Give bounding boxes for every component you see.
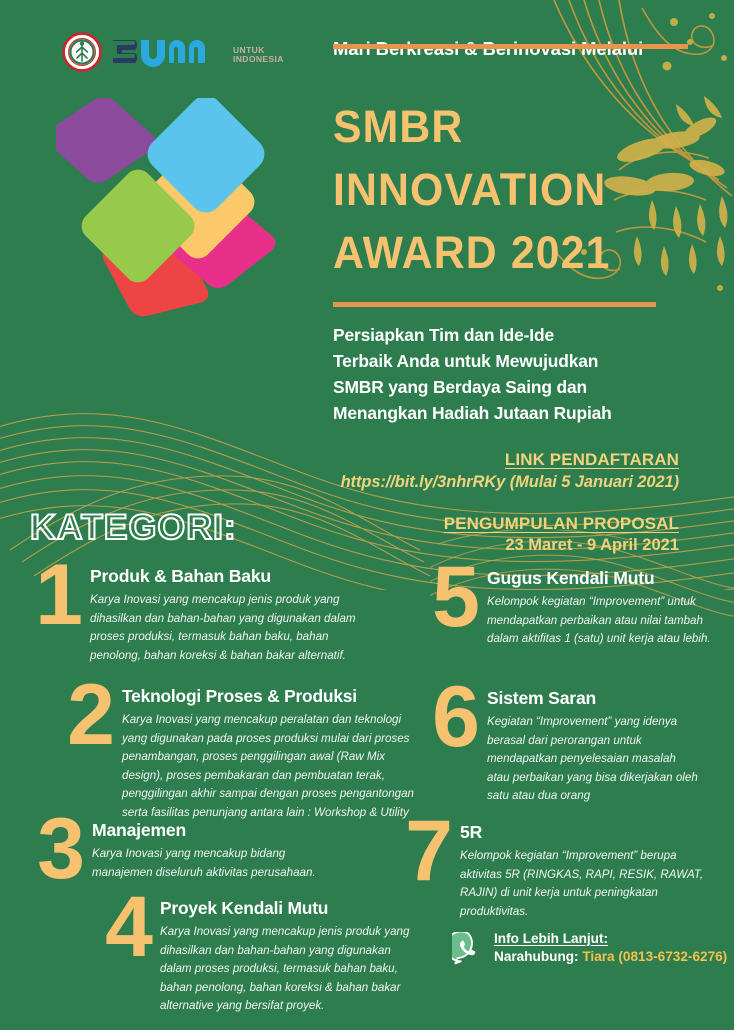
desc-line: Kelompok kegiatan “Improvement” untuk	[487, 593, 711, 612]
header: UNTUK INDONESIA Mari Berkreasi & Berinov…	[0, 28, 734, 98]
category-item-4: 4 Proyek Kendali Mutu Karya Inovasi yang…	[98, 888, 409, 1016]
bumn-logotype-icon	[111, 37, 229, 67]
category-description: Karya Inovasi yang mencakup jenis produk…	[90, 591, 356, 665]
desc-line: alternative yang bersifat proyek.	[160, 997, 409, 1016]
category-title: Proyek Kendali Mutu	[160, 898, 409, 919]
desc-line: atau perbaikan yang bisa dikerjakan oleh	[487, 769, 698, 788]
category-number: 1	[28, 556, 90, 634]
registration-link-heading: LINK PENDAFTARAN	[0, 450, 679, 470]
desc-line: mendapatkan perbaikan atau nilai tambah	[487, 612, 711, 631]
title-line-3: AWARD 2021	[333, 221, 647, 284]
category-number: 4	[98, 888, 160, 966]
desc-line: dalam proses produksi, termasuk bahan ba…	[160, 960, 409, 979]
category-item-5: 5 Gugus Kendali Mutu Kelompok kegiatan “…	[425, 558, 711, 649]
desc-line: Kegiatan “Improvement” yang idenya	[487, 713, 698, 732]
category-description: Karya Inovasi yang mencakup jenis produk…	[160, 923, 409, 1016]
bumn-wordmark: UNTUK INDONESIA	[111, 37, 284, 67]
contact-label: Narahubung:	[494, 949, 582, 964]
category-number: 2	[60, 676, 122, 754]
bumn-tagline: UNTUK INDONESIA	[233, 46, 284, 67]
contact-text: Info Lebih Lanjut: Narahubung: Tiara (08…	[494, 930, 727, 967]
desc-line: penolong, bahan koreksi & bahan bakar al…	[90, 647, 356, 666]
desc-line: berasal dari perorangan untuk	[487, 732, 698, 751]
desc-line: penggilingan akhir sampai dengan proses …	[122, 785, 414, 804]
category-number: 3	[30, 810, 92, 888]
category-item-6: 6 Sistem Saran Kegiatan “Improvement” ya…	[425, 678, 698, 806]
smbr-company-seal-icon	[62, 32, 102, 72]
category-description: Kegiatan “Improvement” yang idenya beras…	[487, 713, 698, 806]
lead-line-2: Terbaik Anda untuk Mewujudkan	[333, 348, 693, 374]
page-title: SMBR INNOVATION AWARD 2021	[333, 95, 647, 284]
contact-block[interactable]: Info Lebih Lanjut: Narahubung: Tiara (08…	[452, 930, 727, 967]
contact-heading: Info Lebih Lanjut:	[494, 930, 727, 948]
desc-line: RAJIN) di unit kerja untuk peningkatan	[460, 884, 703, 903]
category-description: Kelompok kegiatan “Improvement” berupa a…	[460, 847, 703, 921]
desc-line: yang digunakan pada proses produksi mula…	[122, 730, 414, 749]
smbr-innovation-pinwheel-logo-icon	[56, 98, 324, 328]
category-number: 7	[398, 812, 460, 890]
registration-link-url[interactable]: https://bit.ly/3nhrRKy (Mulai 5 Januari …	[0, 473, 679, 492]
lead-paragraph: Persiapkan Tim dan Ide-Ide Terbaik Anda …	[333, 322, 693, 426]
category-number: 6	[425, 678, 487, 756]
divider-mid	[333, 302, 656, 307]
categories-heading: KATEGORI:	[30, 508, 237, 548]
desc-line: proses produksi, termasuk bahan baku, ba…	[90, 628, 356, 647]
desc-line: aktivitas 5R (RINGKAS, RAPI, RESIK, RAWA…	[460, 866, 703, 885]
contact-name-phone: Tiara (0813-6732-6276)	[582, 949, 727, 964]
desc-line: dalam aktifitas 1 (satu) unit kerja atau…	[487, 630, 711, 649]
category-title: Teknologi Proses & Produksi	[122, 686, 414, 707]
desc-line: Karya Inovasi yang mencakup bidang	[92, 845, 316, 864]
desc-line: dihasilkan dan bahan-bahan yang digunaka…	[160, 942, 409, 961]
desc-line: satu atau dua orang	[487, 787, 698, 806]
poster-root: UNTUK INDONESIA Mari Berkreasi & Berinov…	[0, 0, 734, 1030]
category-description: Kelompok kegiatan “Improvement” untuk me…	[487, 593, 711, 649]
tagline: Mari Berkreasi & Berinovasi Melalui	[333, 38, 643, 60]
lead-line-1: Persiapkan Tim dan Ide-Ide	[333, 322, 693, 348]
whatsapp-icon[interactable]	[452, 932, 485, 965]
category-item-3: 3 Manajemen Karya Inovasi yang mencakup …	[30, 810, 316, 888]
desc-line: produktivitas.	[460, 903, 703, 922]
desc-line: Karya Inovasi yang mencakup jenis produk…	[160, 923, 409, 942]
category-item-1: 1 Produk & Bahan Baku Karya Inovasi yang…	[28, 556, 356, 665]
desc-line: penambangan, proses penggilingan awal (R…	[122, 748, 414, 767]
category-description: Karya Inovasi yang mencakup bidang manaj…	[92, 845, 316, 882]
desc-line: Karya Inovasi yang mencakup peralatan da…	[122, 711, 414, 730]
category-number: 5	[425, 558, 487, 636]
desc-line: dihasilkan dan bahan-bahan yang digunaka…	[90, 610, 356, 629]
contact-person: Narahubung: Tiara (0813-6732-6276)	[494, 948, 727, 966]
desc-line: Kelompok kegiatan “Improvement” berupa	[460, 847, 703, 866]
desc-line: bahan penolong, bahan koreksi & bahan ba…	[160, 979, 409, 998]
lead-line-3: SMBR yang Berdaya Saing dan	[333, 374, 693, 400]
bumn-logo-block: UNTUK INDONESIA	[62, 32, 284, 72]
category-description: Karya Inovasi yang mencakup peralatan da…	[122, 711, 414, 823]
lead-line-4: Menangkan Hadiah Jutaan Rupiah	[333, 400, 693, 426]
category-title: Manajemen	[92, 820, 316, 841]
category-title: Gugus Kendali Mutu	[487, 568, 711, 589]
category-item-2: 2 Teknologi Proses & Produksi Karya Inov…	[60, 676, 414, 823]
category-item-7: 7 5R Kelompok kegiatan “Improvement” ber…	[398, 812, 703, 921]
bumn-sub-line2: INDONESIA	[233, 55, 284, 64]
divider-top	[333, 44, 688, 49]
category-title: Sistem Saran	[487, 688, 698, 709]
title-line-2: INNOVATION	[333, 158, 647, 221]
desc-line: design), proses pembakaran dan pembuatan…	[122, 767, 414, 786]
title-line-1: SMBR	[333, 95, 647, 158]
category-title: Produk & Bahan Baku	[90, 566, 356, 587]
desc-line: mendapatkan penyelesaian masalah	[487, 750, 698, 769]
desc-line: Karya Inovasi yang mencakup jenis produk…	[90, 591, 356, 610]
category-title: 5R	[460, 822, 703, 843]
